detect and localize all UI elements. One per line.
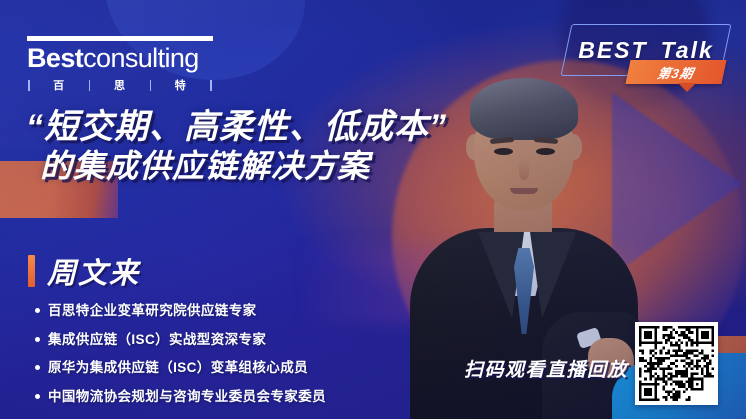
title-line-2: 的集成供应链解决方案 (40, 147, 496, 185)
portrait-lapel-right (530, 232, 576, 318)
list-item: 原华为集成供应链（ISC）变革组核心成员 (48, 361, 378, 375)
logo-cn-char-1: 百 (53, 77, 65, 93)
logo-cn-char-3: 特 (175, 77, 187, 93)
brand-logo: Bestconsulting 百 思 特 (27, 36, 213, 93)
logo-cn-char-2: 思 (114, 77, 126, 93)
qr-caption: 扫码观看直播回放 (464, 355, 628, 382)
portrait-eye-right (536, 148, 555, 155)
logo-word-consulting: consulting (83, 43, 199, 73)
logo-divider-4 (210, 80, 212, 91)
page-title: “短交期、高柔性、低成本” 的集成供应链解决方案 (26, 108, 496, 186)
list-item: 集成供应链（ISC）实战型资深专家 (48, 333, 378, 347)
portrait-nose (519, 158, 529, 180)
logo-divider-1 (28, 80, 30, 91)
qr-code[interactable] (635, 322, 718, 405)
logo-rule (27, 36, 213, 41)
badge-episode-ribbon: 第3期 (625, 60, 726, 84)
speaker-accent-bar (28, 255, 35, 287)
badge-ribbon-tail (678, 83, 696, 92)
speaker-info: 周文来 百思特企业变革研究院供应链专家 集成供应链（ISC）实战型资深专家 原华… (28, 250, 378, 418)
list-item: 中国物流协会规划与咨询专业委员会专家委员 (48, 390, 378, 404)
webinar-poster: Bestconsulting 百 思 特 BEST Talk 第3期 “短交期、… (0, 0, 746, 419)
speaker-name: 周文来 (47, 250, 140, 292)
logo-wordmark: Bestconsulting (27, 44, 213, 72)
speaker-credentials-list: 百思特企业变革研究院供应链专家 集成供应链（ISC）实战型资深专家 原华为集成供… (28, 304, 378, 403)
best-talk-badge: BEST Talk 第3期 (566, 24, 726, 76)
list-item: 百思特企业变革研究院供应链专家 (48, 304, 378, 318)
logo-divider-3 (150, 80, 152, 91)
speaker-name-row: 周文来 (28, 250, 378, 292)
portrait-mouth (510, 188, 538, 194)
logo-chinese-name: 百 思 特 (27, 77, 213, 93)
title-line-1: “短交期、高柔性、低成本” (26, 108, 496, 147)
logo-word-best: Best (27, 43, 83, 73)
qr-code-image (639, 326, 714, 401)
portrait-eye-left (494, 148, 513, 155)
logo-divider-2 (89, 80, 91, 91)
